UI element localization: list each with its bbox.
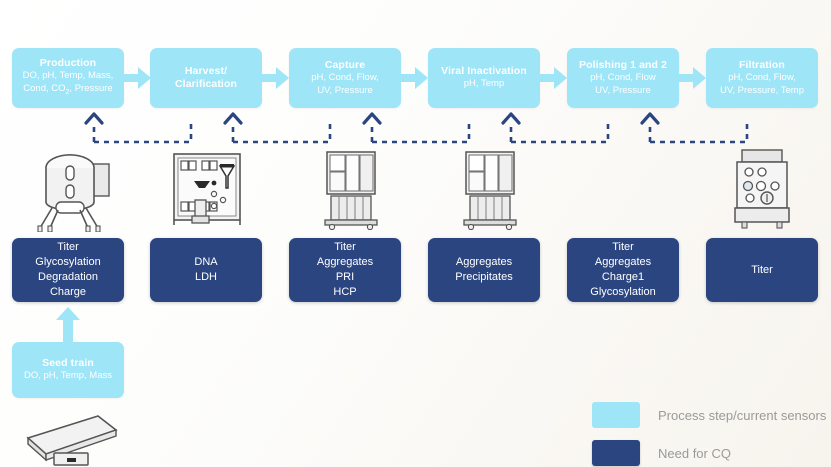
cqa-line: Aggregates [456,255,512,270]
legend-label-cqa: Need for CQ [658,446,731,461]
flow-arrow-seed-train-to-production [54,306,82,342]
diagram-canvas: Production DO, pH, Temp, Mass,Cond, CO2,… [0,0,831,467]
cqa-line: Degradation [38,270,98,285]
cqa-line: Titer [57,240,79,255]
step-sensors: DO, pH, Temp, Mass [24,370,112,383]
process-step-filtration[interactable]: Filtration pH, Cond, Flow,UV, Pressure, … [706,48,818,108]
process-step-production[interactable]: Production DO, pH, Temp, Mass,Cond, CO2,… [12,48,124,108]
flow-arrow-viral-inactivation-to-polishing [540,65,570,91]
legend: Process step/current sensors Need for CQ [592,400,826,467]
flow-arrow-polishing-to-filtration [679,65,709,91]
shaker-platform-icon [20,408,120,466]
bioreactor-icon [28,144,123,232]
cqa-line: Charge [50,285,86,300]
chromatography-skid-icon [322,150,380,230]
process-step-viral-inactivation[interactable]: Viral Inactivation pH, Temp [428,48,540,108]
step-title: Filtration [739,59,785,72]
cqa-line: Charge1 [602,270,644,285]
legend-item-cqa: Need for CQ [592,438,826,467]
step-sensors: DO, pH, Temp, Mass,Cond, CO2, Pressure [23,70,114,99]
cqa-box-capture[interactable]: Titer Aggregates PRI HCP [289,238,401,302]
cqa-line: Aggregates [317,255,373,270]
step-sensors: pH, Cond, Flow,UV, Pressure [311,72,379,97]
process-step-polishing[interactable]: Polishing 1 and 2 pH, Cond, FlowUV, Pres… [567,48,679,108]
legend-swatch-cqa [592,440,640,466]
dashed-connector-4 [497,110,622,144]
dashed-connector-1 [80,110,205,144]
cqa-line: Titer [612,240,634,255]
cqa-line: Titer [751,263,773,278]
dashed-connector-3 [358,110,483,144]
flow-arrow-harvest-to-capture [262,65,292,91]
cqa-box-viral-inactivation[interactable]: Aggregates Precipitates [428,238,540,302]
legend-swatch-process-step [592,402,640,428]
chromatography-skid-icon-2 [461,150,519,230]
cqa-box-production[interactable]: Titer Glycosylation Degradation Charge [12,238,124,302]
process-step-harvest[interactable]: Harvest/Clarification [150,48,262,108]
step-title: Seed train [42,357,94,370]
cqa-line: Glycosylation [590,285,655,300]
cqa-line: Aggregates [595,255,651,270]
step-title: Capture [325,59,365,72]
flow-arrow-production-to-harvest [124,65,154,91]
cqa-box-harvest[interactable]: DNA LDH [150,238,262,302]
cqa-box-filtration[interactable]: Titer [706,238,818,302]
step-title: Viral Inactivation [441,65,527,78]
dashed-connector-2 [219,110,344,144]
cqa-box-polishing[interactable]: Titer Aggregates Charge1 Glycosylation [567,238,679,302]
step-sensors: pH, Temp [464,78,504,91]
step-title: Harvest/Clarification [175,65,237,91]
flow-arrow-capture-to-viral-inactivation [401,65,431,91]
step-sensors: pH, Cond, FlowUV, Pressure [590,72,655,97]
step-sensors: pH, Cond, Flow,UV, Pressure, Temp [720,72,804,97]
process-step-seed-train[interactable]: Seed train DO, pH, Temp, Mass [12,342,124,398]
cqa-line: Glycosylation [35,255,100,270]
cqa-line: Titer [334,240,356,255]
centrifuge-icon [168,150,248,230]
process-step-capture[interactable]: Capture pH, Cond, Flow,UV, Pressure [289,48,401,108]
cqa-line: LDH [195,270,217,285]
step-title: Production [40,57,96,70]
cqa-line: HCP [333,285,356,300]
cqa-line: DNA [194,255,217,270]
cqa-line: Precipitates [455,270,512,285]
dashed-connector-5 [636,110,761,144]
cqa-line: PRI [336,270,354,285]
legend-label-process-step: Process step/current sensors [658,408,826,423]
filtration-unit-icon [731,148,793,230]
legend-item-process-step: Process step/current sensors [592,400,826,430]
step-title: Polishing 1 and 2 [579,59,667,72]
